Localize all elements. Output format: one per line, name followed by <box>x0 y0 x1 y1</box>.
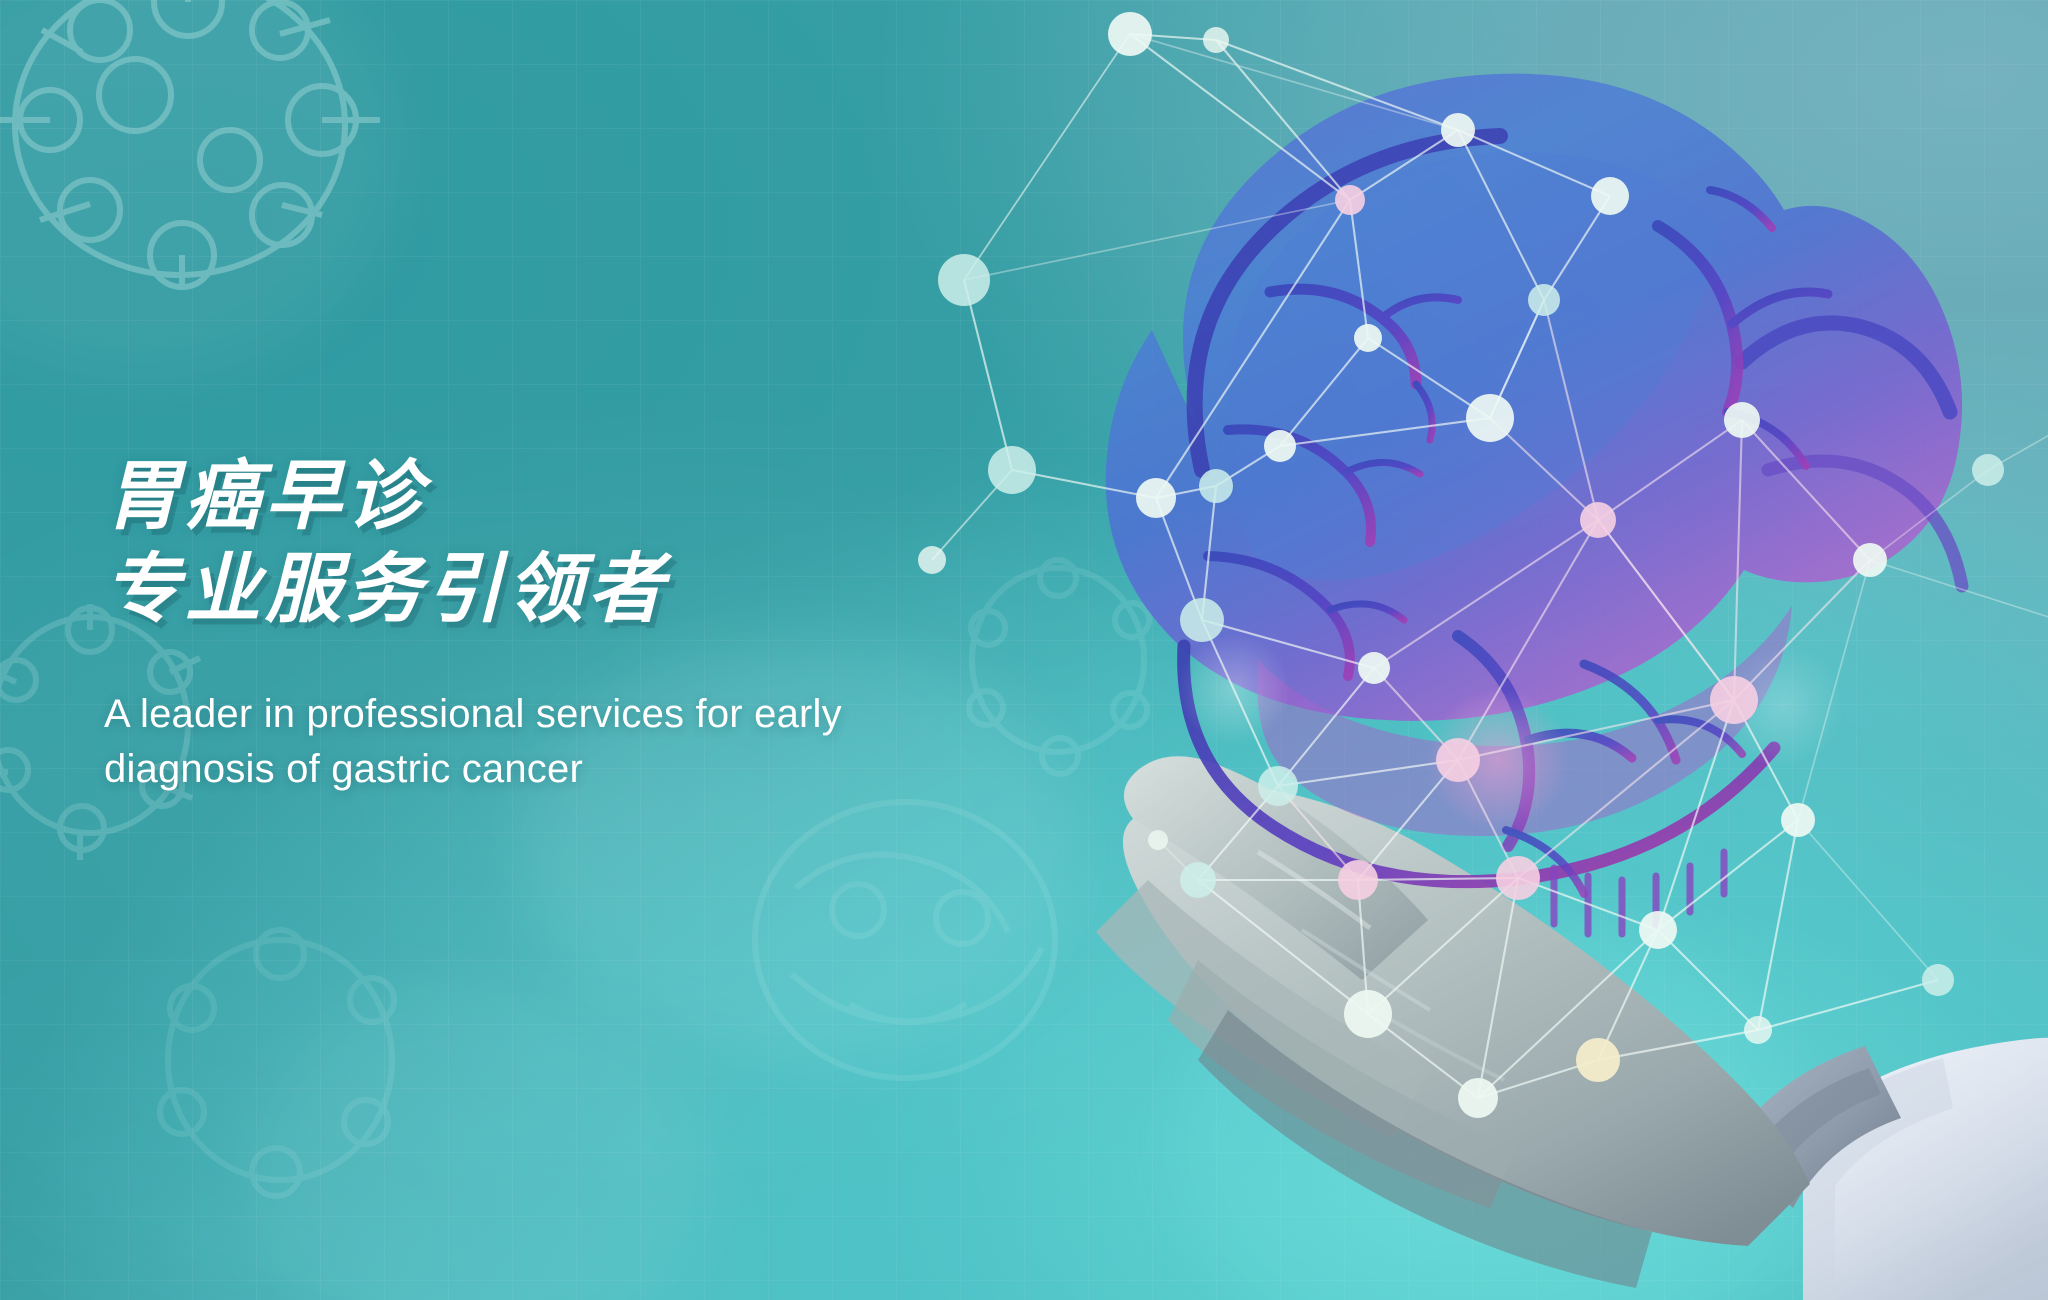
banner-root: 胃癌早诊 专业服务引领者 A leader in professional se… <box>0 0 2048 1300</box>
vignette-overlay <box>0 0 2048 1300</box>
